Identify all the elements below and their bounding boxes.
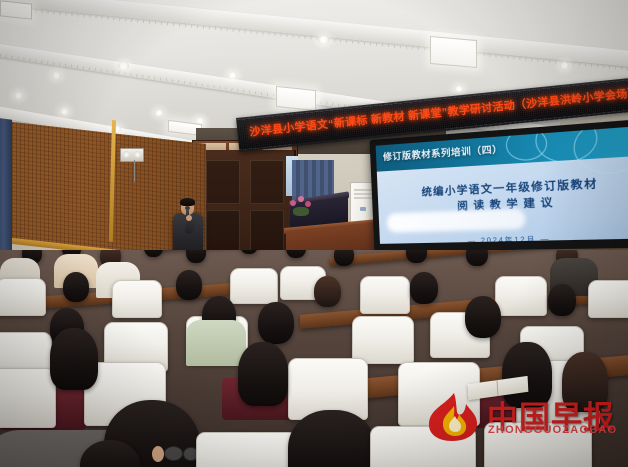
chair-with-cover (230, 268, 278, 304)
ac-vent (354, 189, 372, 191)
watermark-pinyin-text: ZHONGGUOZAOBAO (488, 424, 617, 436)
downlight-icon (14, 92, 23, 99)
downlight-icon (228, 72, 237, 79)
chair-with-cover (588, 280, 628, 318)
downlight-icon (60, 108, 69, 115)
chair-with-cover (196, 432, 298, 467)
flame-logo-icon (425, 392, 483, 442)
chair-with-cover (360, 276, 410, 314)
downlight-icon (155, 110, 163, 116)
audience-head (465, 296, 501, 338)
slide-date-line: — 2024年12月 — (380, 231, 628, 244)
chair-with-cover (0, 368, 56, 428)
chair-with-cover (495, 276, 547, 316)
audience-head (334, 250, 354, 266)
chair-with-cover (352, 316, 414, 364)
audience-head (50, 328, 98, 390)
flower (305, 201, 311, 207)
panel-light-icon (0, 0, 32, 19)
audience-head (176, 270, 202, 300)
audience-head (240, 250, 258, 254)
slide-decoration-icon (572, 125, 628, 175)
audience-body (186, 320, 246, 366)
chair-with-cover (112, 280, 162, 318)
downlight-icon (52, 72, 61, 79)
audience-head (258, 302, 294, 344)
audience-head (406, 250, 427, 263)
ac-display-icon (360, 207, 366, 211)
door-panel (250, 160, 284, 204)
conference-photo-scene: 修订版教材系列培训（四） 统编小学语文一年级修订版教材 阅读教学建议 — 202… (0, 0, 628, 467)
flower (298, 196, 304, 202)
downlight-icon (118, 62, 129, 70)
projection-screen: 修订版教材系列培训（四） 统编小学语文一年级修订版教材 阅读教学建议 — 202… (376, 125, 628, 244)
ac-vent (354, 197, 372, 199)
slide-header-text: 修订版教材系列培训（四） (383, 142, 503, 164)
audience-head (548, 284, 576, 316)
projection-screen-frame: 修订版教材系列培训（四） 统编小学语文一年级修订版教材 阅读教学建议 — 202… (370, 118, 628, 252)
audience-head (286, 250, 306, 258)
back-door[interactable] (196, 150, 296, 266)
watermark: 中国早报 ZHONGGUOZAOBAO (425, 390, 625, 450)
flower (290, 200, 296, 206)
emergency-light-cord (134, 160, 135, 182)
audience-head (314, 276, 341, 307)
door-panel (206, 160, 240, 204)
downlight-icon (560, 62, 569, 69)
speaker-hair (180, 198, 195, 206)
audience-head (238, 342, 288, 406)
audience-head (63, 272, 89, 302)
downlight-icon (455, 86, 463, 92)
audience-head (466, 250, 488, 266)
audience-head (186, 250, 206, 263)
panel-light-icon (276, 86, 316, 111)
ac-vent (354, 193, 372, 195)
downlight-icon (318, 36, 329, 44)
glasses-icon (164, 446, 183, 461)
ear (152, 446, 164, 462)
chair-with-cover (0, 278, 46, 316)
audience-head (410, 272, 438, 304)
panel-light-icon (430, 36, 477, 68)
speaker-hand (186, 215, 192, 221)
slide-decoration-icon (505, 126, 548, 161)
audience-head (144, 250, 163, 257)
microphone-head-icon (185, 206, 190, 210)
screen-glare (387, 208, 526, 232)
emergency-light-icon (120, 148, 144, 162)
stage-flowers (288, 196, 316, 222)
flower-leaf (293, 207, 309, 216)
